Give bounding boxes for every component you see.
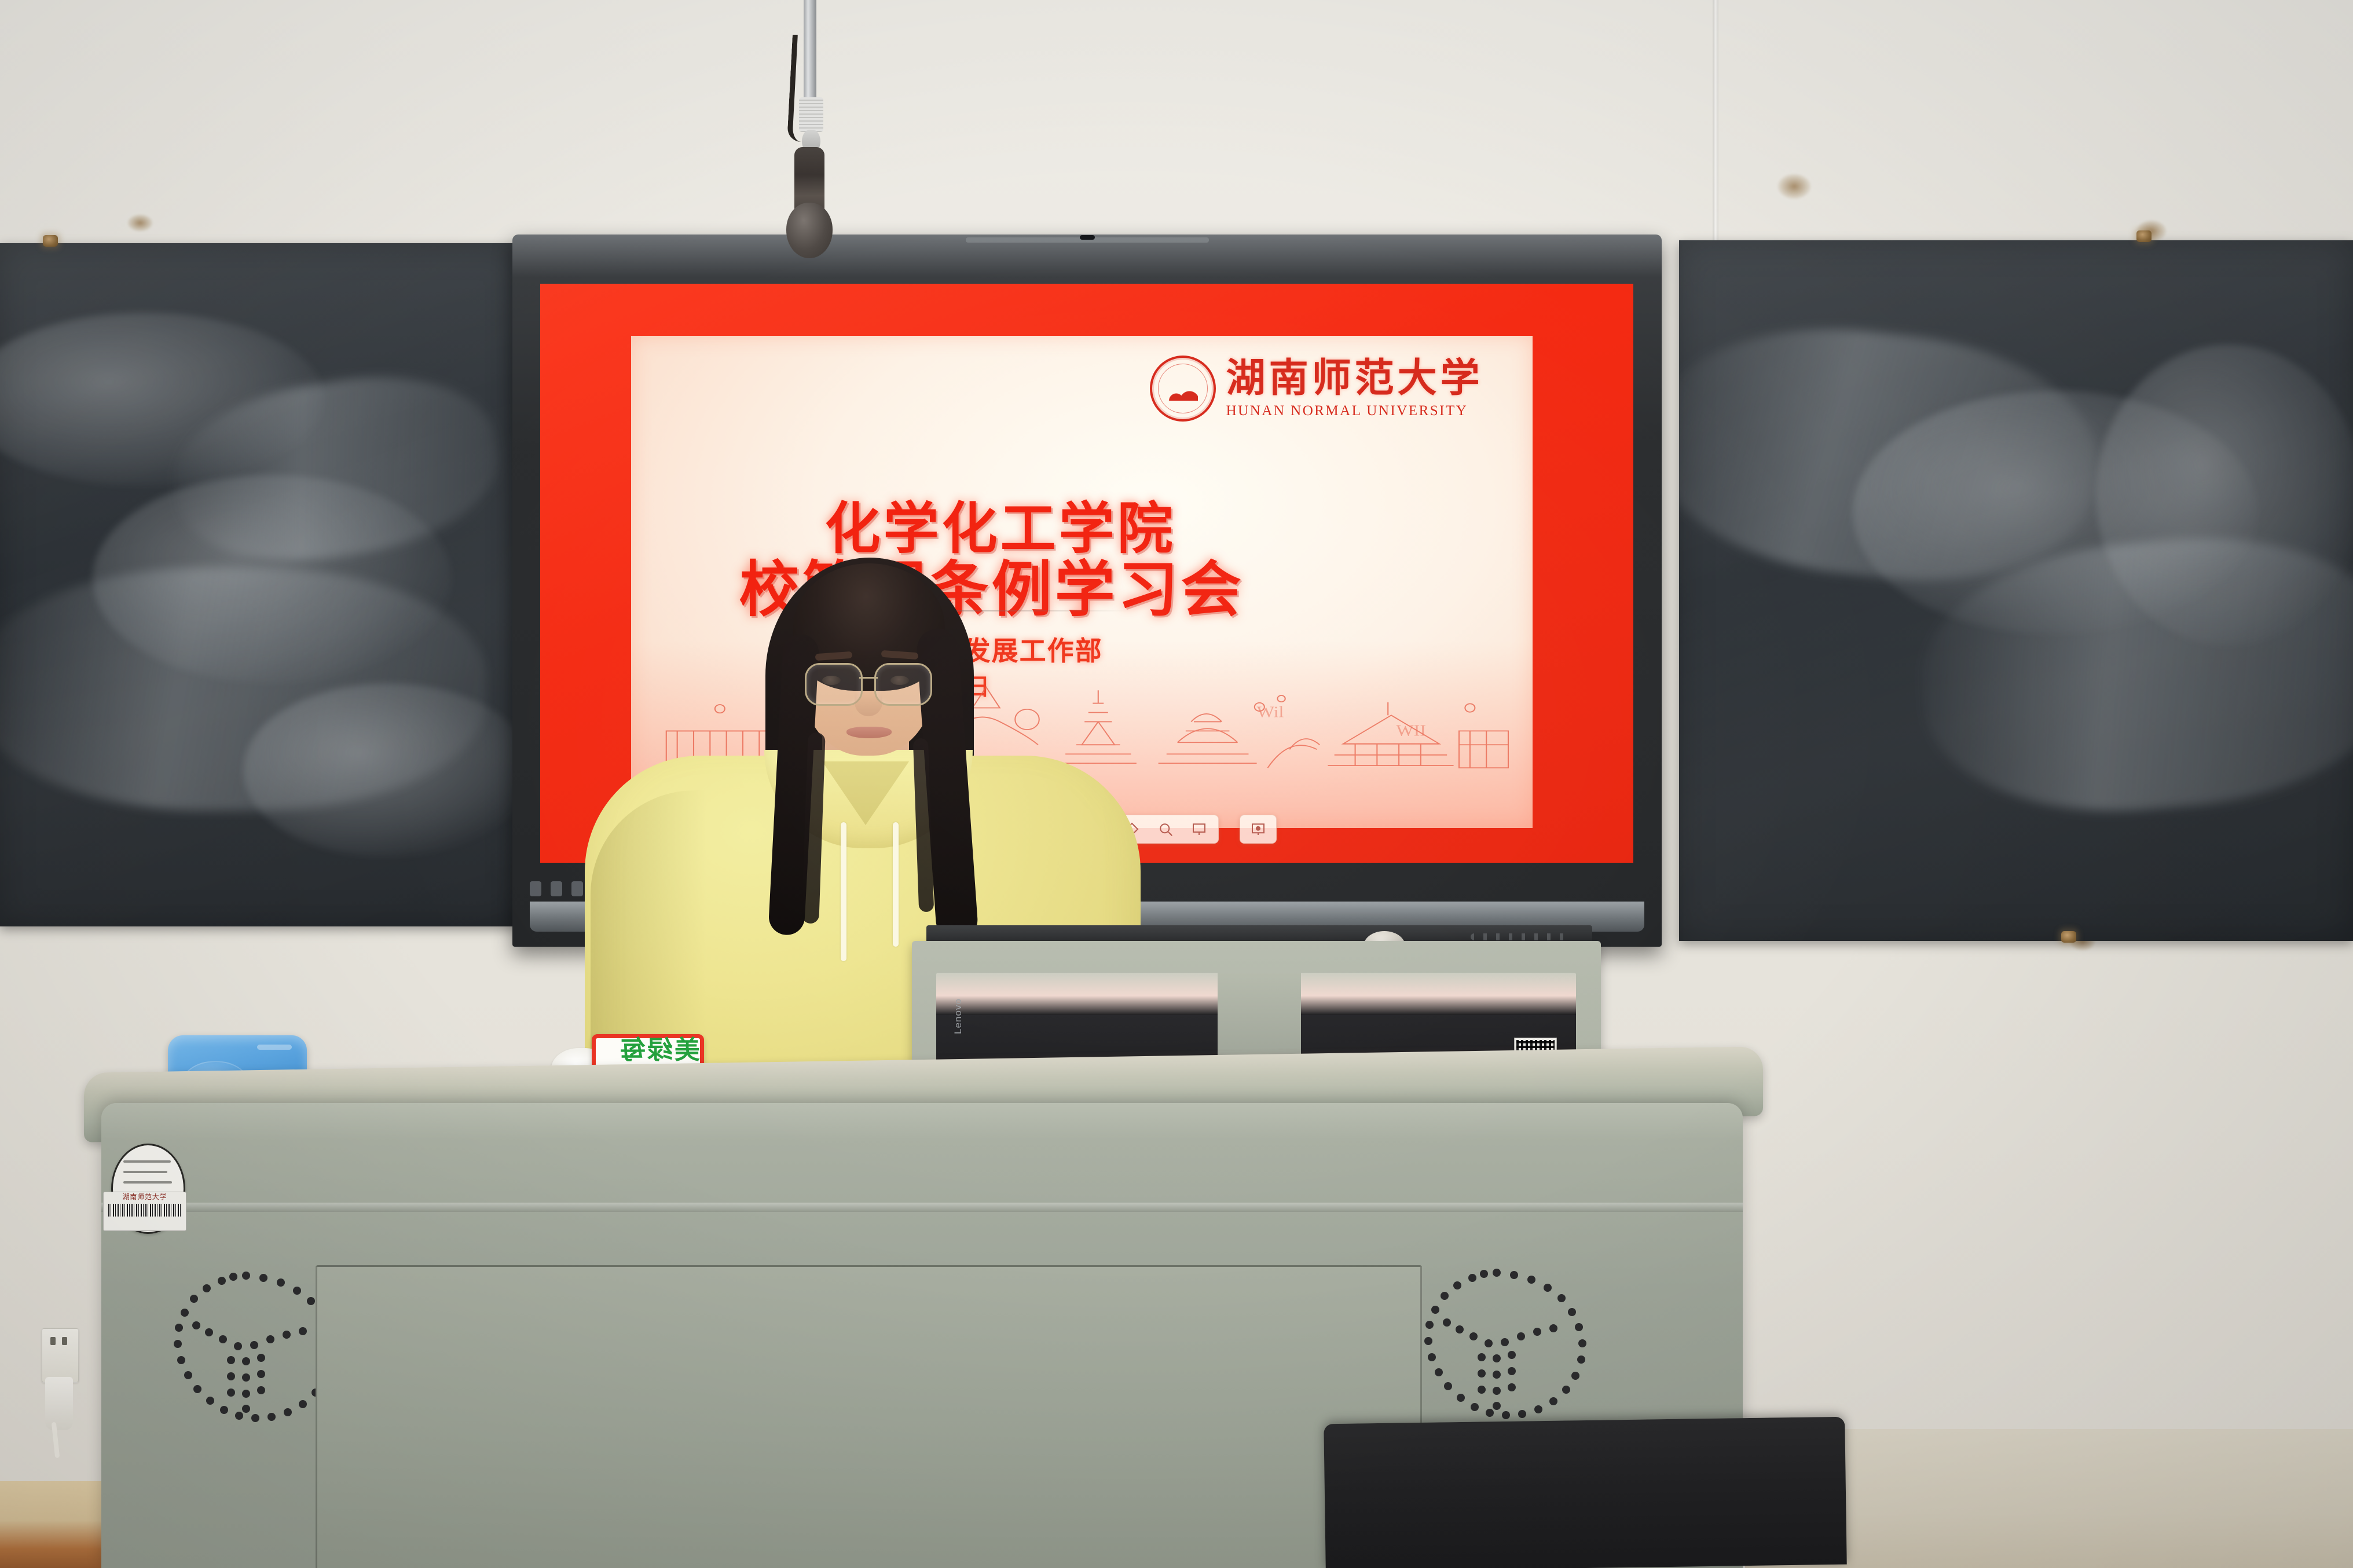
drawstring [893, 822, 899, 947]
volume-button[interactable] [571, 881, 583, 896]
podium-asset-sticker: 湖南师范大学 [103, 1192, 186, 1231]
drawstring [841, 822, 846, 961]
podium-front-panel [316, 1265, 1422, 1568]
power-outlet [42, 1328, 79, 1383]
barcode-icon [108, 1204, 181, 1217]
glasses-bridge [859, 677, 878, 679]
mouth [846, 727, 892, 738]
board-mount-bolt [2061, 931, 2076, 943]
wall-stain [1777, 174, 1811, 199]
wall-stain [127, 214, 153, 232]
magnifier-icon[interactable] [1157, 820, 1174, 838]
board-mount-bolt [2136, 230, 2152, 242]
left-chalkboard [0, 243, 521, 926]
glasses-lens [874, 663, 932, 706]
microphone-collar [799, 97, 823, 132]
podium-vent-right [1392, 1262, 1601, 1436]
power-plug [45, 1377, 73, 1430]
wall-seam [1713, 0, 1718, 249]
svg-text:Wil: Wil [1257, 704, 1284, 720]
svg-text:WII: WII [1396, 722, 1426, 739]
board-mount-bolt [43, 235, 58, 247]
smartboard-present-toolbar[interactable] [1240, 815, 1277, 844]
right-chalkboard [1679, 240, 2353, 941]
power-button[interactable] [530, 881, 541, 896]
smartboard-camera-icon [1080, 235, 1095, 240]
hanging-microphone [786, 203, 833, 258]
university-logo: 湖南师范大学 HUNAN NORMAL UNIVERSITY [1150, 356, 1483, 422]
university-name-cn: 湖南师范大学 [1226, 358, 1483, 398]
lenovo-brand-mark: Lenovo [952, 998, 964, 1034]
university-seal-icon [1150, 356, 1216, 422]
university-name-en: HUNAN NORMAL UNIVERSITY [1226, 403, 1483, 419]
present-screen-icon[interactable] [1249, 820, 1267, 838]
source-button[interactable] [551, 881, 562, 896]
glasses-lens [805, 663, 863, 706]
whiteboard-icon[interactable] [1190, 820, 1208, 838]
student-chair[interactable] [1324, 1417, 1846, 1568]
classroom-scene: 湖南师范大学 HUNAN NORMAL UNIVERSITY 化学化工学院 校管… [0, 0, 2353, 1568]
